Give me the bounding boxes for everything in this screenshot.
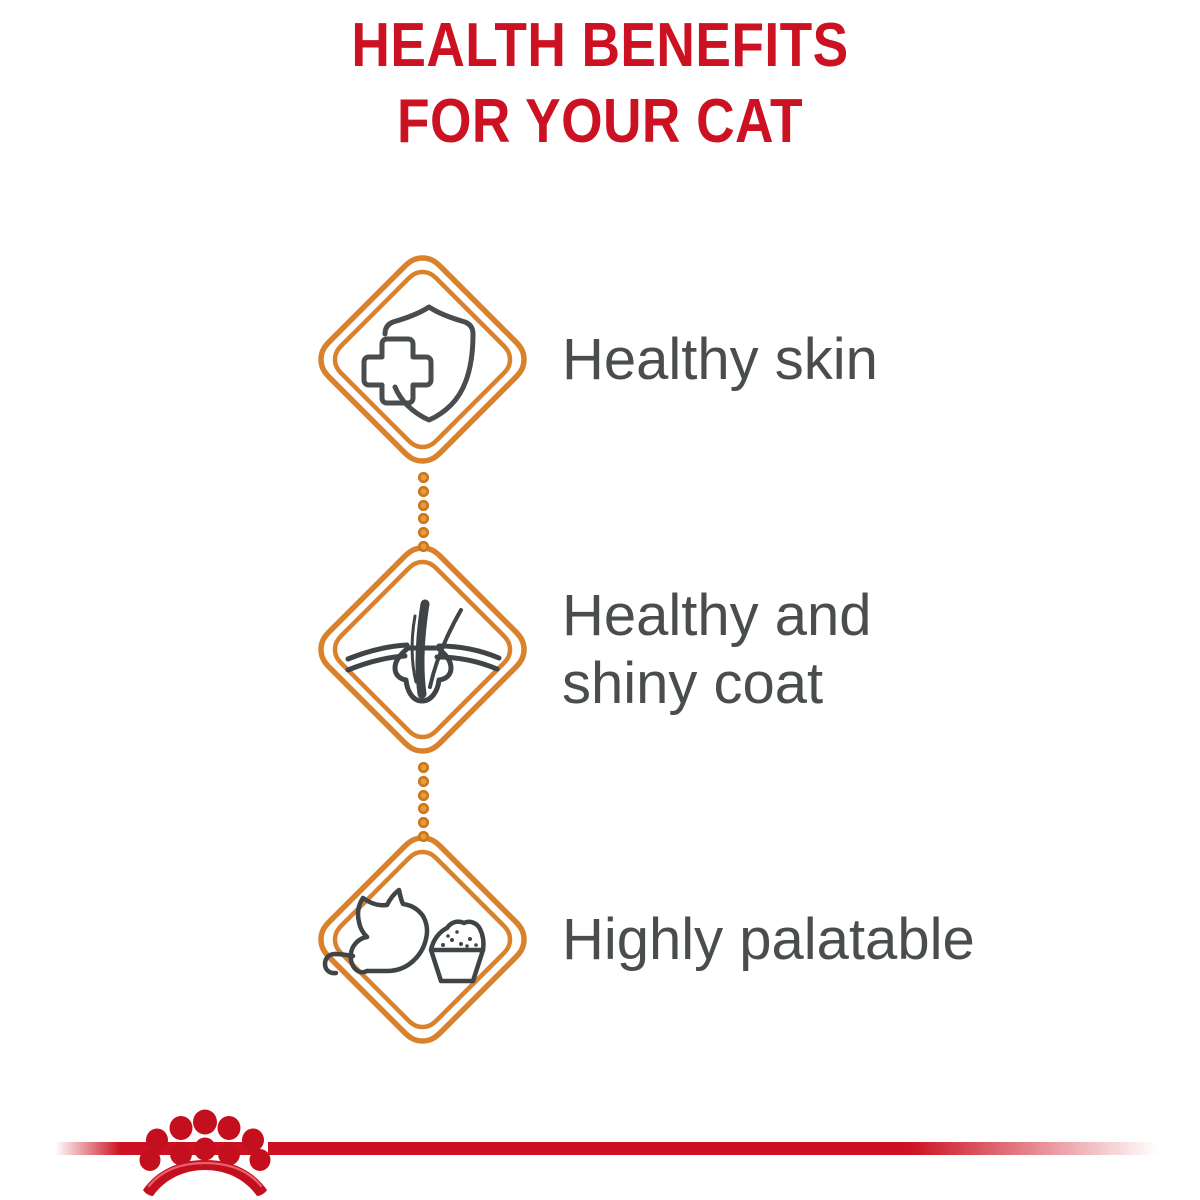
benefit-item-highly-palatable: Highly palatable xyxy=(0,832,1200,1122)
benefit-label-shiny-coat: Healthy and shiny coat xyxy=(562,542,1182,757)
connector-dot xyxy=(418,776,429,787)
connector-dot xyxy=(418,472,429,483)
title-line-2: FOR YOUR CAT xyxy=(84,84,1116,160)
footer-bar-right xyxy=(268,1142,1158,1155)
benefit-label-line: Healthy skin xyxy=(562,326,1182,394)
title-line-1: HEALTH BENEFITS xyxy=(84,8,1116,84)
connector-dot xyxy=(418,790,429,801)
connector-dot xyxy=(418,817,429,828)
benefit-item-shiny-coat: Healthy and shiny coat xyxy=(0,542,1200,832)
connector-dot xyxy=(418,486,429,497)
connector-dots-1 xyxy=(414,472,432,552)
benefit-label-highly-palatable: Highly palatable xyxy=(562,832,1182,1047)
cat-eating-bowl-icon xyxy=(315,832,530,1047)
benefit-label-healthy-skin: Healthy skin xyxy=(562,252,1182,467)
benefit-label-line: Highly palatable xyxy=(562,906,1182,974)
connector-dot xyxy=(418,513,429,524)
connector-dot xyxy=(418,527,429,538)
connector-dot xyxy=(418,541,429,552)
shield-cross-icon xyxy=(315,252,530,467)
connector-dot xyxy=(418,762,429,773)
hair-follicle-icon xyxy=(315,542,530,757)
page-title: HEALTH BENEFITS FOR YOUR CAT xyxy=(0,8,1200,159)
benefit-item-healthy-skin: Healthy skin xyxy=(0,252,1200,542)
benefit-label-line: Healthy and xyxy=(562,582,1182,650)
royal-canin-crown-logo xyxy=(135,1102,275,1197)
footer xyxy=(0,1080,1200,1200)
benefits-list: Healthy skin xyxy=(0,252,1200,1122)
connector-dot xyxy=(418,500,429,511)
benefit-label-line: shiny coat xyxy=(562,650,1182,718)
connector-dots-2 xyxy=(414,762,432,842)
connector-dot xyxy=(418,831,429,842)
connector-dot xyxy=(418,803,429,814)
